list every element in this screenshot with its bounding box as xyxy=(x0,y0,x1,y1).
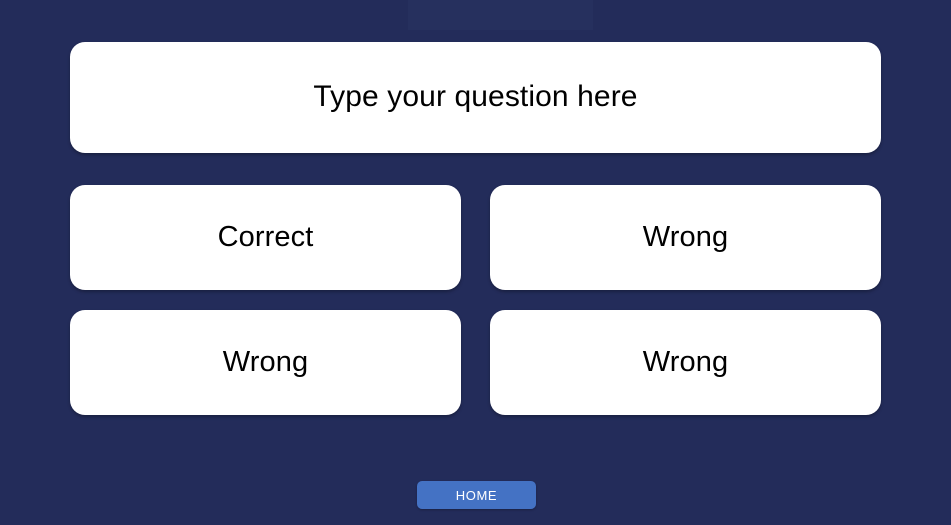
home-button-label: HOME xyxy=(456,488,497,503)
answer-label-4: Wrong xyxy=(627,346,744,379)
question-card[interactable]: Type your question here xyxy=(70,42,881,153)
answer-card-2[interactable]: Wrong xyxy=(490,185,881,290)
answer-card-4[interactable]: Wrong xyxy=(490,310,881,415)
answer-label-2: Wrong xyxy=(627,221,744,254)
answer-label-3: Wrong xyxy=(207,346,324,379)
answer-label-1: Correct xyxy=(202,221,330,254)
question-text: Type your question here xyxy=(295,80,655,115)
answer-card-1[interactable]: Correct xyxy=(70,185,461,290)
answer-card-3[interactable]: Wrong xyxy=(70,310,461,415)
home-button[interactable]: HOME xyxy=(417,481,536,509)
quiz-slide: Type your question here Correct Wrong Wr… xyxy=(0,0,951,525)
background-artifact xyxy=(408,0,593,30)
